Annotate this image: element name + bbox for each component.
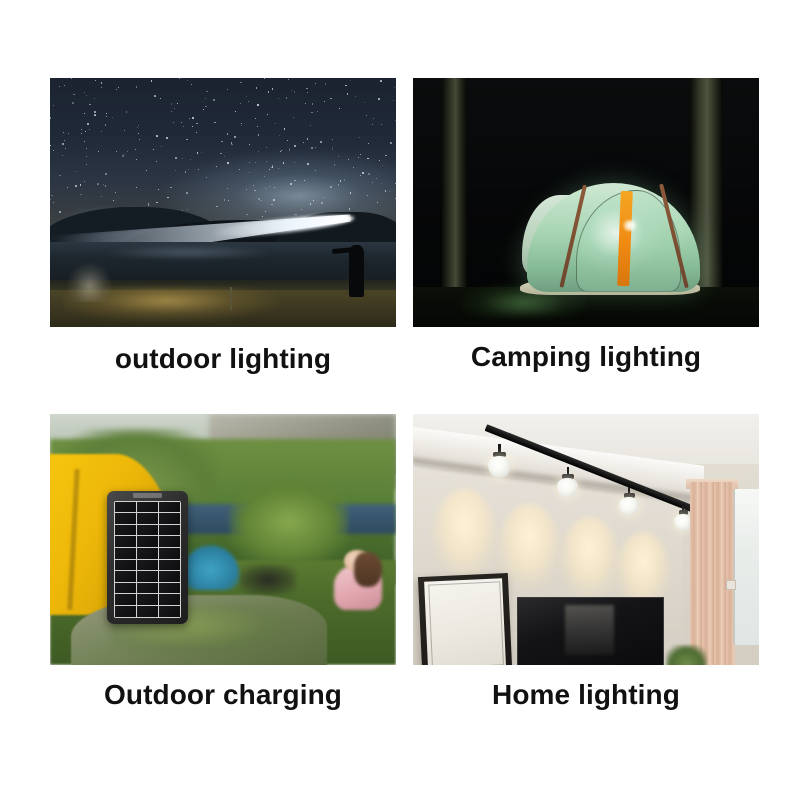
star [156,161,157,162]
star [317,111,318,112]
framed-artwork [418,573,512,665]
star [367,195,368,196]
star [377,202,378,203]
star [350,80,351,81]
star [160,98,161,99]
star [113,200,114,201]
star [53,105,54,106]
star [281,150,282,151]
star [148,203,149,204]
star [95,80,96,81]
star [136,159,137,160]
caption-camping-lighting: Camping lighting [413,343,759,371]
star [94,114,95,115]
star [280,151,281,152]
star [187,209,188,210]
star [275,123,276,124]
star [373,118,374,119]
star [283,162,285,164]
star [246,96,247,97]
star [84,92,85,93]
star [278,168,279,169]
star [206,91,208,93]
solar-cell [159,583,180,594]
star [358,157,359,158]
star [310,203,311,204]
star [269,186,270,187]
star [171,103,172,104]
star [372,124,373,125]
solar-cell [159,606,180,617]
star [50,117,51,118]
star [258,134,259,135]
solar-cell [115,525,136,536]
star [267,114,268,115]
star [372,182,373,183]
star [338,184,339,185]
star [258,151,259,152]
star [192,117,193,118]
star [279,135,280,136]
star [234,136,235,137]
solar-cell [159,502,180,513]
star [344,179,346,181]
solar-cell [137,583,158,594]
star [235,111,236,112]
panel-outdoor-charging[interactable] [50,414,396,665]
star [167,197,169,199]
solar-cell [115,513,136,524]
star [63,132,64,133]
star [50,145,51,146]
star [367,158,369,160]
star [105,173,106,174]
star [360,175,362,177]
solar-cell [137,571,158,582]
star [86,164,87,165]
star [220,153,221,154]
caption-outdoor-charging: Outdoor charging [50,681,396,709]
star [265,211,266,212]
star [395,183,396,184]
star [293,117,294,118]
star [325,83,326,84]
star [315,147,316,148]
solar-cell [137,525,158,536]
solar-cell [137,560,158,571]
star [364,102,365,103]
star [313,200,314,201]
star [50,199,51,200]
star [295,214,297,216]
star [231,144,232,145]
star [315,83,317,85]
star [175,170,176,171]
bulb-glass [557,478,578,498]
star [173,122,174,123]
star [256,87,258,89]
fence-post [230,287,232,309]
star [379,160,380,161]
star [187,80,188,81]
star [101,131,102,132]
star [124,130,125,131]
star [94,111,96,113]
star [239,169,240,170]
star [294,180,295,181]
star [227,89,228,90]
star [80,194,81,195]
star [85,131,86,132]
star [294,91,295,92]
star [105,185,106,186]
track-bulb-1 [486,444,514,479]
solar-cell [137,548,158,559]
star [158,189,159,190]
bush [230,479,348,564]
star [268,91,269,92]
star [258,198,259,199]
star [183,126,185,128]
star [246,189,247,190]
star [182,158,183,159]
star [355,96,356,97]
panel-outdoor-lighting[interactable] [50,78,396,327]
star [246,214,247,215]
star [271,204,273,206]
solar-cell [115,606,136,617]
star [311,147,312,148]
star [228,200,229,201]
star [59,175,60,176]
star [290,183,291,184]
star [378,98,380,100]
star [289,149,290,150]
star [311,112,313,114]
star [190,159,191,160]
star [359,137,360,138]
star [394,87,395,88]
track-bulb-3 [617,487,641,517]
solar-cell [115,560,136,571]
star [205,98,206,99]
star [214,122,215,123]
star [269,169,270,170]
star [307,138,309,140]
star [381,183,382,184]
star [52,195,53,196]
star [366,115,367,116]
star [198,169,199,170]
star [338,156,339,157]
star [255,162,256,163]
star [185,171,187,173]
star [156,135,158,137]
solar-cell [115,583,136,594]
photo-outdoor-lighting [50,78,396,327]
star [76,171,77,172]
star [224,156,225,157]
solar-cell [137,513,158,524]
star [170,187,172,189]
star [286,97,288,99]
star [350,192,351,193]
panel-home-lighting[interactable] [413,414,759,665]
star [304,180,305,181]
star [192,126,193,127]
star [189,118,190,119]
bare-tree [67,262,112,302]
caption-home-lighting: Home lighting [413,681,759,709]
star [330,186,332,188]
star [216,166,217,167]
star [62,143,63,144]
star [301,209,302,210]
star [353,167,354,168]
star [362,172,363,173]
bulb-glass [488,456,511,478]
star [101,196,102,197]
girl-hair [354,552,382,587]
star [84,113,85,114]
star [188,169,189,170]
solar-cell [137,536,158,547]
star [116,89,117,90]
star [154,95,156,97]
star [345,85,347,87]
solar-cell [159,560,180,571]
star [101,82,102,83]
star [332,149,333,150]
star [315,170,316,171]
star [51,195,53,197]
television-reflection [565,605,613,655]
star [106,116,107,117]
camping-lamp-glow [622,220,638,231]
star [138,133,140,135]
solar-cell [115,536,136,547]
star [64,85,65,86]
star [86,148,87,149]
star [62,155,63,156]
star [72,102,74,104]
star [196,132,197,133]
star [381,124,382,125]
star [71,78,72,79]
star [227,162,229,164]
solar-cell [115,594,136,605]
solar-cell [137,594,158,605]
star [310,125,311,126]
star [135,149,136,150]
star [249,172,250,173]
star [273,199,275,201]
star [324,101,325,102]
star [323,197,324,198]
star [84,181,85,182]
star [340,180,342,182]
star [221,141,223,143]
star [139,139,140,140]
star [213,99,215,101]
solar-cell [159,513,180,524]
star [249,144,250,145]
photo-home-lighting [413,414,759,665]
bulb-glass [619,497,639,516]
solar-cell [159,536,180,547]
star [339,108,340,109]
star [240,82,242,84]
wall-outlet [726,580,736,590]
star [98,151,100,153]
star [196,123,197,124]
photo-camping-lighting [413,78,759,327]
star [126,111,128,113]
star [65,148,66,149]
star [67,187,68,188]
star [115,192,116,193]
solar-cell-grid [114,501,181,618]
star [175,157,177,159]
solar-cell [137,502,158,513]
solar-cell [137,606,158,617]
star [306,88,307,89]
star [272,167,273,168]
window [733,489,759,645]
star [241,123,242,124]
star [186,139,187,140]
star [266,147,267,148]
photo-outdoor-charging [50,414,396,665]
potted-plant [666,645,708,665]
star [201,152,203,154]
star [303,142,304,143]
star [334,164,335,165]
star [257,126,258,127]
star [136,86,137,87]
star [106,113,107,114]
star [312,103,314,105]
solar-panel-logo [133,493,162,498]
star [380,80,382,82]
track-bulb-2 [555,467,581,500]
star [257,104,258,105]
star [174,108,175,109]
star [278,98,280,100]
star [206,177,207,178]
star [216,206,217,207]
star [274,187,275,188]
solar-cell [115,502,136,513]
star [348,159,349,160]
star [227,133,228,134]
star [84,141,85,142]
star [262,216,263,217]
star [287,140,288,141]
star [307,92,308,93]
star [136,187,138,189]
star [393,100,394,101]
dog [240,565,295,595]
star [105,124,106,125]
star [253,185,254,186]
star [127,151,129,153]
star [264,176,265,177]
star [118,87,119,88]
star [153,149,154,150]
star [260,200,261,201]
window-curtain [690,482,735,665]
star [97,183,99,185]
star [177,103,178,104]
star [241,125,242,126]
star [53,150,54,151]
star [389,191,390,192]
star [349,208,351,210]
star [203,109,204,110]
star [265,188,267,190]
star [81,133,82,134]
person-silhouette [349,245,364,297]
solar-cell [115,548,136,559]
panel-grid: outdoor lighting Camping lighti [0,0,800,800]
star [288,79,289,80]
star [368,143,369,144]
solar-cell [159,525,180,536]
star [81,129,82,130]
star [116,151,117,152]
star [240,103,241,104]
star [112,117,113,118]
star [266,161,267,162]
star [360,154,361,155]
star [171,111,172,112]
scenario-collage: outdoor lighting Camping lighti [0,0,800,800]
star [294,145,295,146]
star [156,202,157,203]
star [89,129,90,130]
star [138,125,140,127]
star [75,185,77,187]
star [395,120,396,122]
star [80,184,82,186]
star [248,101,249,102]
star [161,146,162,147]
artwork-inner-border [428,581,504,665]
star [376,178,377,179]
star [73,94,74,95]
caption-outdoor-lighting: outdoor lighting [50,345,396,373]
star [197,152,198,153]
star [385,155,386,156]
star [86,95,87,96]
star [255,118,256,119]
water-reflection [105,245,271,260]
star [186,192,188,194]
star [291,90,292,91]
panel-camping-lighting[interactable] [413,78,759,327]
star [137,127,138,128]
solar-cell [159,594,180,605]
star [64,140,65,141]
star [321,202,323,204]
star [385,190,387,192]
star [101,87,102,88]
star [181,122,182,123]
star [122,155,124,157]
star [151,80,153,82]
star [68,133,69,134]
